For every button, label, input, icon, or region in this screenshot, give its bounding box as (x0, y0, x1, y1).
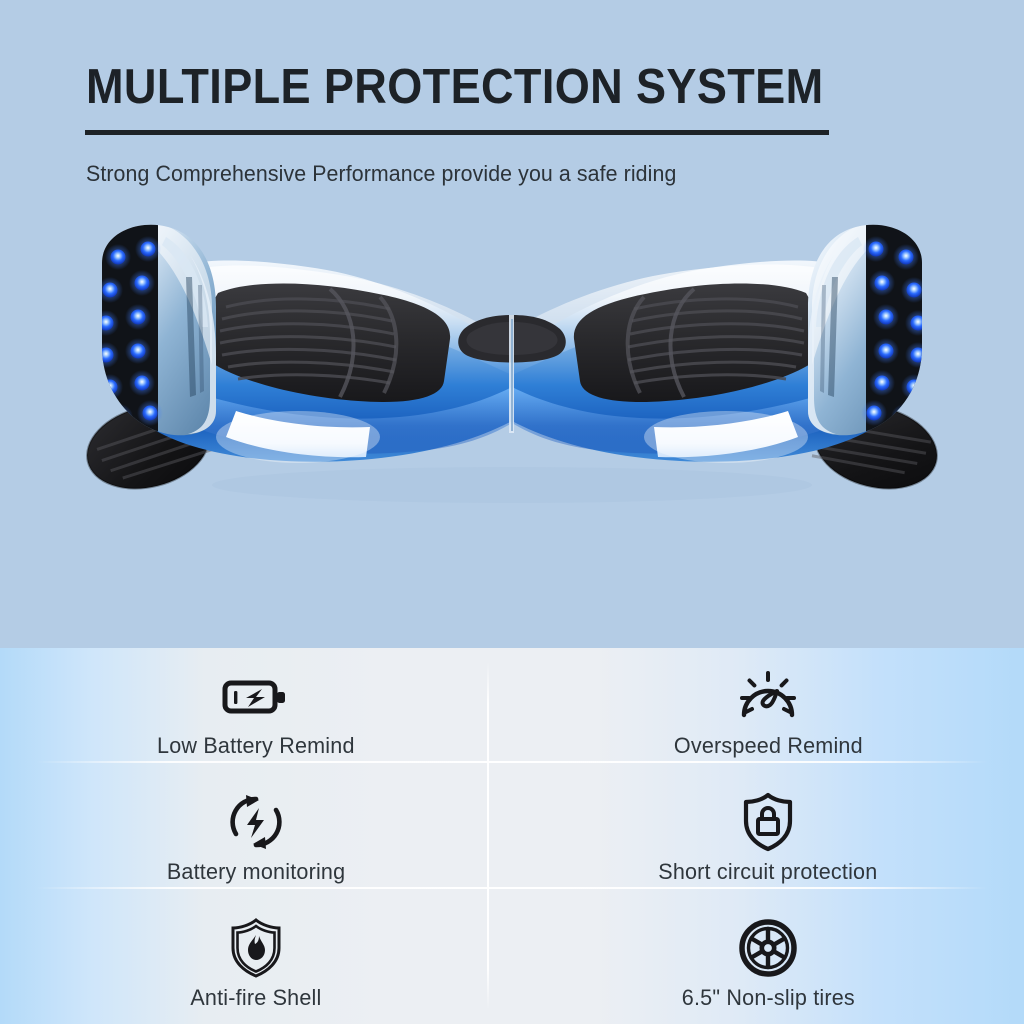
hoverboard-product-image (40, 215, 984, 535)
wheel-arch-right (808, 221, 931, 443)
features-grid: Low Battery Remind (0, 648, 1024, 1024)
feature-label: Battery monitoring (167, 858, 345, 886)
battery-low-icon (220, 666, 292, 726)
shield-lock-icon (740, 792, 796, 852)
feature-label: Short circuit protection (658, 858, 877, 886)
hero-panel: MULTIPLE PROTECTION SYSTEM Strong Compre… (0, 0, 1024, 648)
speedometer-icon (736, 666, 800, 726)
feature-label: Anti-fire Shell (190, 984, 321, 1012)
page-title: MULTIPLE PROTECTION SYSTEM (86, 58, 824, 116)
feature-cell-battery-monitoring[interactable]: Battery monitoring (0, 788, 512, 913)
battery-monitoring-icon (225, 792, 287, 852)
shield-flame-icon (228, 918, 284, 978)
product-feature-infographic: MULTIPLE PROTECTION SYSTEM Strong Compre… (0, 0, 1024, 1024)
feature-cell-short-circuit-protection[interactable]: Short circuit protection (512, 788, 1024, 913)
wheel-arch-left (93, 221, 216, 443)
page-subtitle: Strong Comprehensive Performance provide… (86, 159, 676, 189)
feature-label: Overspeed Remind (674, 732, 863, 760)
feature-cell-anti-fire-shell[interactable]: Anti-fire Shell (0, 914, 512, 1024)
wheel-icon (738, 918, 798, 978)
title-underline-rule (85, 130, 829, 135)
feature-cell-overspeed-remind[interactable]: Overspeed Remind (512, 662, 1024, 787)
feature-label: Low Battery Remind (157, 732, 355, 760)
feature-cell-low-battery-remind[interactable]: Low Battery Remind (0, 662, 512, 787)
feature-cell-non-slip-tires[interactable]: 6.5" Non-slip tires (512, 914, 1024, 1024)
features-panel: Low Battery Remind (0, 648, 1024, 1024)
feature-label: 6.5" Non-slip tires (681, 984, 854, 1012)
